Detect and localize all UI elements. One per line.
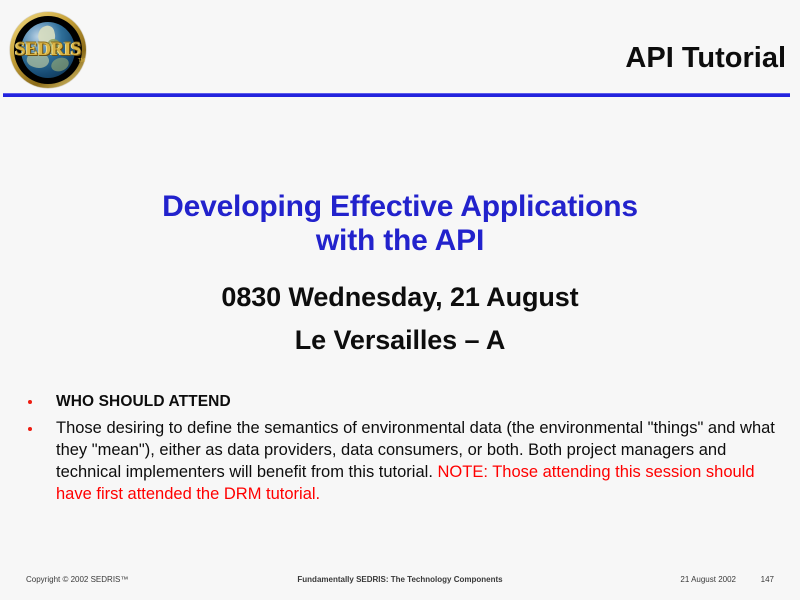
slide-header: SEDRIS TM API Tutorial bbox=[0, 0, 800, 96]
footer-page-number: 147 bbox=[761, 575, 774, 584]
globe-landmass-south bbox=[49, 55, 70, 73]
logo-black-disc bbox=[14, 16, 82, 84]
bullet-paragraph-text: Those desiring to define the semantics o… bbox=[56, 418, 788, 506]
page-title-line-1: Developing Effective Applications bbox=[0, 190, 800, 224]
session-time-line: 0830 Wednesday, 21 August bbox=[0, 276, 800, 319]
globe-landmass-east bbox=[47, 39, 61, 54]
footer-date: 21 August 2002 bbox=[680, 575, 736, 584]
page-title-line-2: with the API bbox=[0, 224, 800, 258]
session-room-line: Le Versailles – A bbox=[0, 319, 800, 362]
page-title: Developing Effective Applications with t… bbox=[0, 190, 800, 257]
header-title: API Tutorial bbox=[625, 44, 786, 73]
bullet-heading-text: WHO SHOULD ATTEND bbox=[56, 392, 788, 412]
slide-subtitle-block: 0830 Wednesday, 21 August Le Versailles … bbox=[0, 276, 800, 362]
bullet-dot-icon bbox=[28, 427, 32, 431]
globe-landmass-west bbox=[25, 49, 51, 71]
slide-footer: Copyright © 2002 SEDRIS™ Fundamentally S… bbox=[0, 572, 800, 592]
page-subtitle: 0830 Wednesday, 21 August Le Versailles … bbox=[0, 276, 800, 362]
header-divider-rule bbox=[3, 93, 790, 97]
bullet-dot-icon bbox=[28, 400, 32, 404]
sedris-globe-logo-icon: SEDRIS TM bbox=[8, 10, 92, 90]
logo-earth-globe bbox=[21, 22, 75, 78]
slide-canvas: SEDRIS TM API Tutorial Developing Effect… bbox=[0, 0, 800, 600]
logo-trademark-mark: TM bbox=[78, 58, 85, 64]
slide-title-block: Developing Effective Applications with t… bbox=[0, 190, 800, 257]
list-item: WHO SHOULD ATTEND bbox=[22, 392, 788, 412]
list-item: Those desiring to define the semantics o… bbox=[22, 418, 788, 506]
slide-body: WHO SHOULD ATTEND Those desiring to defi… bbox=[22, 392, 788, 508]
